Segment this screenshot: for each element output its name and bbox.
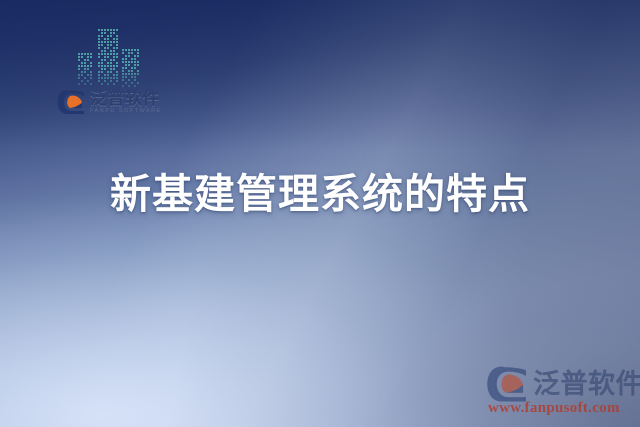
watermark-logo-row: 泛普软件 bbox=[486, 365, 640, 403]
slide-canvas: 泛普软件 FANPU SOFTWARE 新基建管理系统的特点 泛普软件 www.… bbox=[0, 0, 640, 427]
header-logo-company-cn: 泛普软件 bbox=[90, 90, 162, 107]
watermark-url: www.fanpusoft.com bbox=[488, 400, 620, 417]
header-logo: 泛普软件 FANPU SOFTWARE bbox=[57, 89, 162, 115]
pixel-cityscape-icon bbox=[78, 27, 142, 87]
fanpu-logo-icon bbox=[486, 365, 528, 403]
header-logo-wordmark: 泛普软件 FANPU SOFTWARE bbox=[90, 90, 162, 115]
fanpu-logo-icon bbox=[57, 89, 85, 115]
watermark: 泛普软件 www.fanpusoft.com bbox=[486, 361, 632, 419]
slide-title: 新基建管理系统的特点 bbox=[0, 172, 640, 217]
header-logo-company-en: FANPU SOFTWARE bbox=[90, 109, 162, 115]
watermark-company-cn: 泛普软件 bbox=[533, 371, 640, 398]
